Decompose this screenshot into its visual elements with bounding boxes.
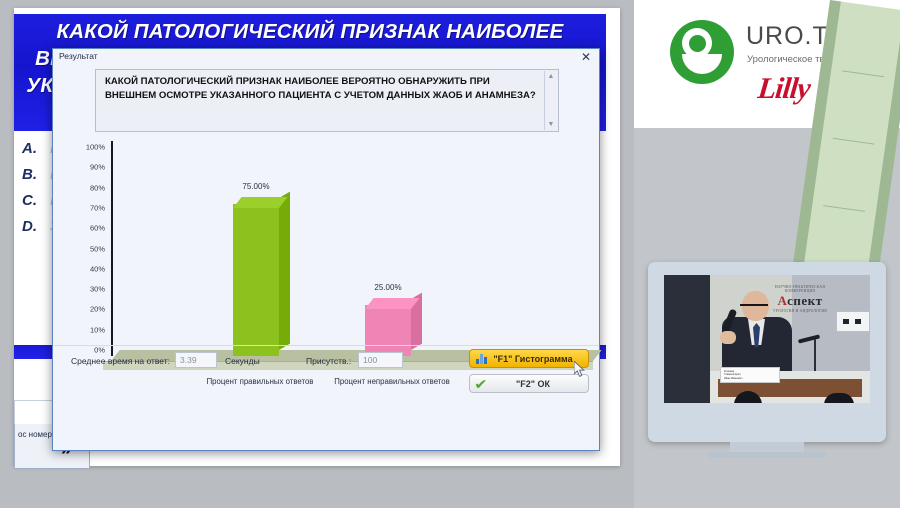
monitor-base bbox=[708, 452, 826, 458]
filmstrip-perforation bbox=[799, 225, 806, 235]
y-tick-label: 60% bbox=[90, 224, 105, 233]
filmstrip-perforation bbox=[891, 118, 898, 128]
chart-bar: 75.00% bbox=[233, 204, 279, 356]
filmstrip-perforation bbox=[811, 141, 818, 151]
y-tick-label: 20% bbox=[90, 305, 105, 314]
filmstrip-perforation bbox=[877, 219, 884, 229]
filmstrip-frame-line bbox=[833, 138, 875, 145]
filmstrip-perforation bbox=[823, 57, 830, 67]
filmstrip-perforation bbox=[813, 124, 820, 134]
voting-panel-label: ос номер: bbox=[18, 430, 54, 439]
urotv-logo-icon bbox=[670, 20, 734, 84]
option-letter-b: B. bbox=[22, 166, 50, 183]
bar-value-label: 75.00% bbox=[242, 182, 269, 191]
bar-face bbox=[233, 204, 279, 356]
banner-top-text: НАУЧНО-ПРАКТИЧЕСКАЯ КОНФЕРЕНЦИЯ bbox=[764, 285, 836, 293]
video-screen[interactable]: НАУЧНО-ПРАКТИЧЕСКАЯ КОНФЕРЕНЦИЯ Аспект У… bbox=[664, 275, 870, 403]
dialog-title: Результат bbox=[59, 51, 98, 61]
scroll-up-icon[interactable]: ▲ bbox=[545, 71, 557, 82]
logo-card: URO.TV Урологическое тв Lilly bbox=[634, 0, 900, 128]
filmstrip-perforation bbox=[820, 74, 827, 84]
logo-subtitle: Урологическое тв bbox=[747, 54, 825, 65]
scroll-down-icon[interactable]: ▼ bbox=[545, 119, 557, 130]
filmstrip-perforation bbox=[818, 90, 825, 100]
filmstrip-perforation bbox=[809, 158, 816, 168]
close-icon[interactable]: ✕ bbox=[579, 50, 593, 64]
filmstrip-perforation bbox=[816, 107, 823, 117]
filmstrip-perforation bbox=[879, 202, 886, 212]
y-tick-label: 40% bbox=[90, 264, 105, 273]
screen-widget-icon bbox=[836, 311, 870, 332]
filmstrip-perforation bbox=[872, 252, 879, 262]
banner-sub-text: УРОЛОГИЯ И АНДРОЛОГИЯ bbox=[764, 309, 836, 313]
filmstrip-perforation bbox=[825, 40, 832, 50]
x-axis-label: Процент правильных ответов bbox=[207, 377, 314, 386]
filmstrip-perforation bbox=[889, 135, 896, 145]
question-scrollbar[interactable]: ▲ ▼ bbox=[544, 71, 557, 130]
checkmark-glyph: ✔ bbox=[474, 377, 487, 391]
histogram-icon bbox=[470, 354, 492, 364]
filmstrip-perforation bbox=[874, 236, 881, 246]
bar-side bbox=[279, 191, 290, 350]
filmstrip-perforation bbox=[806, 175, 813, 185]
option-letter-c: C. bbox=[22, 192, 50, 209]
lilly-logo: Lilly bbox=[756, 72, 811, 106]
conference-banner: НАУЧНО-ПРАКТИЧЕСКАЯ КОНФЕРЕНЦИЯ Аспект У… bbox=[764, 285, 836, 319]
seconds-label: Секунды bbox=[225, 356, 260, 366]
y-tick-label: 10% bbox=[90, 325, 105, 334]
filmstrip-perforation bbox=[804, 191, 811, 201]
nameplate-text: Клиника Главный врач Иван Иванович bbox=[724, 370, 743, 380]
right-branding-column: URO.TV Урологическое тв Lilly НАУЧНО-ПРА… bbox=[634, 0, 900, 508]
filmstrip-perforation bbox=[797, 242, 804, 252]
filmstrip-perforation bbox=[828, 23, 835, 33]
filmstrip-perforation bbox=[802, 208, 809, 218]
bar-face bbox=[365, 305, 411, 356]
present-value[interactable]: 100 bbox=[358, 352, 403, 368]
screen-root: КАКОЙ ПАТОЛОГИЧЕСКИЙ ПРИЗНАК НАИБОЛЕЕ ВЕ… bbox=[0, 0, 900, 508]
filmstrip-perforation bbox=[886, 151, 893, 161]
bar-top bbox=[233, 197, 288, 208]
filmstrip-frame-line bbox=[823, 205, 865, 212]
bar-top bbox=[365, 298, 420, 309]
histogram-button-label: "F1" Гистограмма bbox=[492, 354, 588, 364]
filmstrip-perforation bbox=[830, 6, 837, 16]
filmstrip-perforation bbox=[896, 84, 900, 94]
checkmark-icon: ✔ bbox=[470, 377, 492, 391]
x-axis-label: Процент неправильных ответов bbox=[334, 377, 449, 386]
histogram-button[interactable]: "F1" Гистограмма bbox=[469, 349, 589, 368]
y-tick-label: 90% bbox=[90, 163, 105, 172]
filmstrip-frame-line bbox=[842, 70, 884, 77]
avg-time-label: Среднее время на ответ: bbox=[71, 356, 170, 366]
option-letter-a: A. bbox=[22, 140, 50, 157]
video-monitor: НАУЧНО-ПРАКТИЧЕСКАЯ КОНФЕРЕНЦИЯ Аспект У… bbox=[648, 262, 886, 442]
question-textbox[interactable]: КАКОЙ ПАТОЛОГИЧЕСКИЙ ПРИЗНАК НАИБОЛЕЕ ВЕ… bbox=[95, 69, 559, 132]
y-tick-label: 100% bbox=[86, 143, 105, 152]
present-label: Присутств.: bbox=[306, 356, 351, 366]
dialog-separator bbox=[53, 345, 599, 346]
banner-main-text: Аспект bbox=[778, 293, 823, 308]
chart-axis-line bbox=[111, 141, 113, 356]
filmstrip-perforation bbox=[881, 185, 888, 195]
filmstrip-perforation bbox=[893, 101, 900, 111]
filmstrip-perforation bbox=[884, 168, 891, 178]
option-letter-d: D. bbox=[22, 218, 50, 235]
result-dialog: Результат ✕ КАКОЙ ПАТОЛОГИЧЕСКИЙ ПРИЗНАК… bbox=[52, 48, 600, 451]
dialog-titlebar: Результат ✕ bbox=[53, 49, 599, 66]
y-tick-label: 50% bbox=[90, 244, 105, 253]
chart-bar: 25.00% bbox=[365, 305, 411, 356]
y-tick-label: 70% bbox=[90, 203, 105, 212]
y-tick-label: 80% bbox=[90, 183, 105, 192]
bar-value-label: 25.00% bbox=[374, 283, 401, 292]
avg-time-value[interactable]: 3.39 bbox=[175, 352, 217, 368]
ok-button-label: "F2" ОК bbox=[492, 379, 588, 389]
question-text: КАКОЙ ПАТОЛОГИЧЕСКИЙ ПРИЗНАК НАИБОЛЕЕ ВЕ… bbox=[105, 75, 540, 102]
y-tick-label: 30% bbox=[90, 285, 105, 294]
ok-button[interactable]: ✔ "F2" ОК bbox=[469, 374, 589, 393]
chart-y-axis: 100%90%80%70%60%50%40%30%20%10%0% bbox=[65, 141, 111, 356]
